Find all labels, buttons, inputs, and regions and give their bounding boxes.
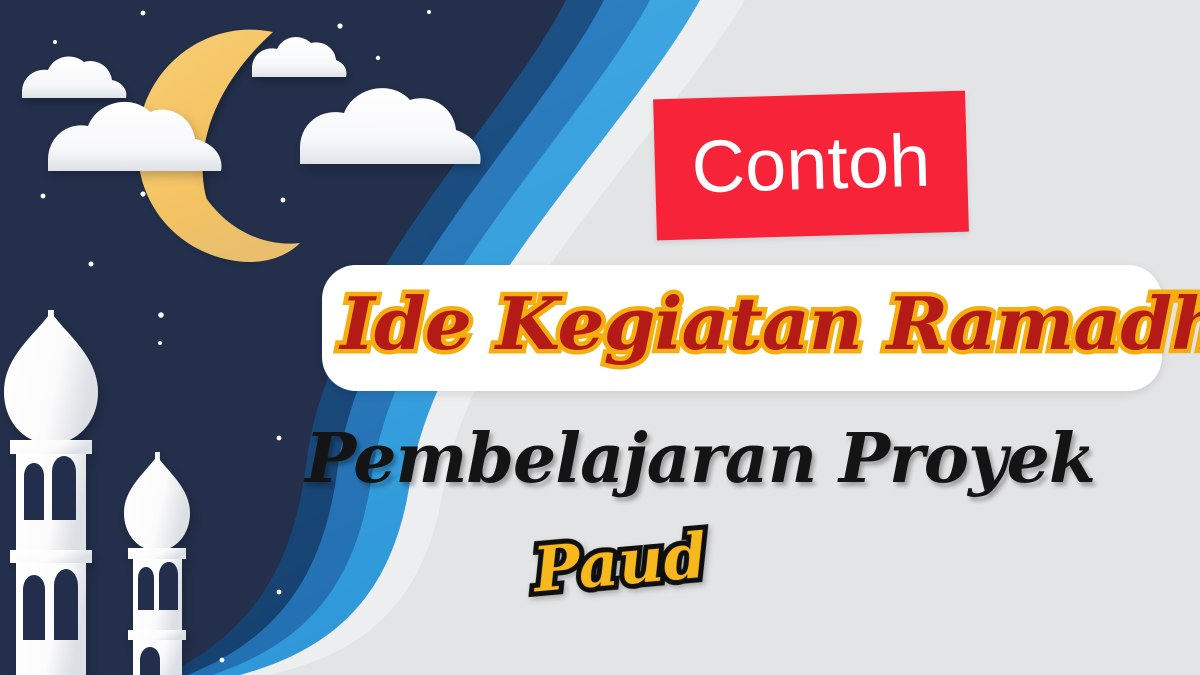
main-title: Ide Kegiatan Ramadhan [340, 288, 1143, 360]
mosque-minaret-large [4, 310, 98, 675]
contoh-badge-label: Contoh [691, 123, 932, 204]
subtitle-text: Pembelajaran Proyek [300, 425, 1100, 493]
contoh-badge: Contoh [653, 91, 969, 241]
poster-canvas: Contoh Ide Kegiatan Ramadhan Pembelajara… [0, 0, 1200, 675]
mosque-minaret-small [124, 452, 190, 675]
